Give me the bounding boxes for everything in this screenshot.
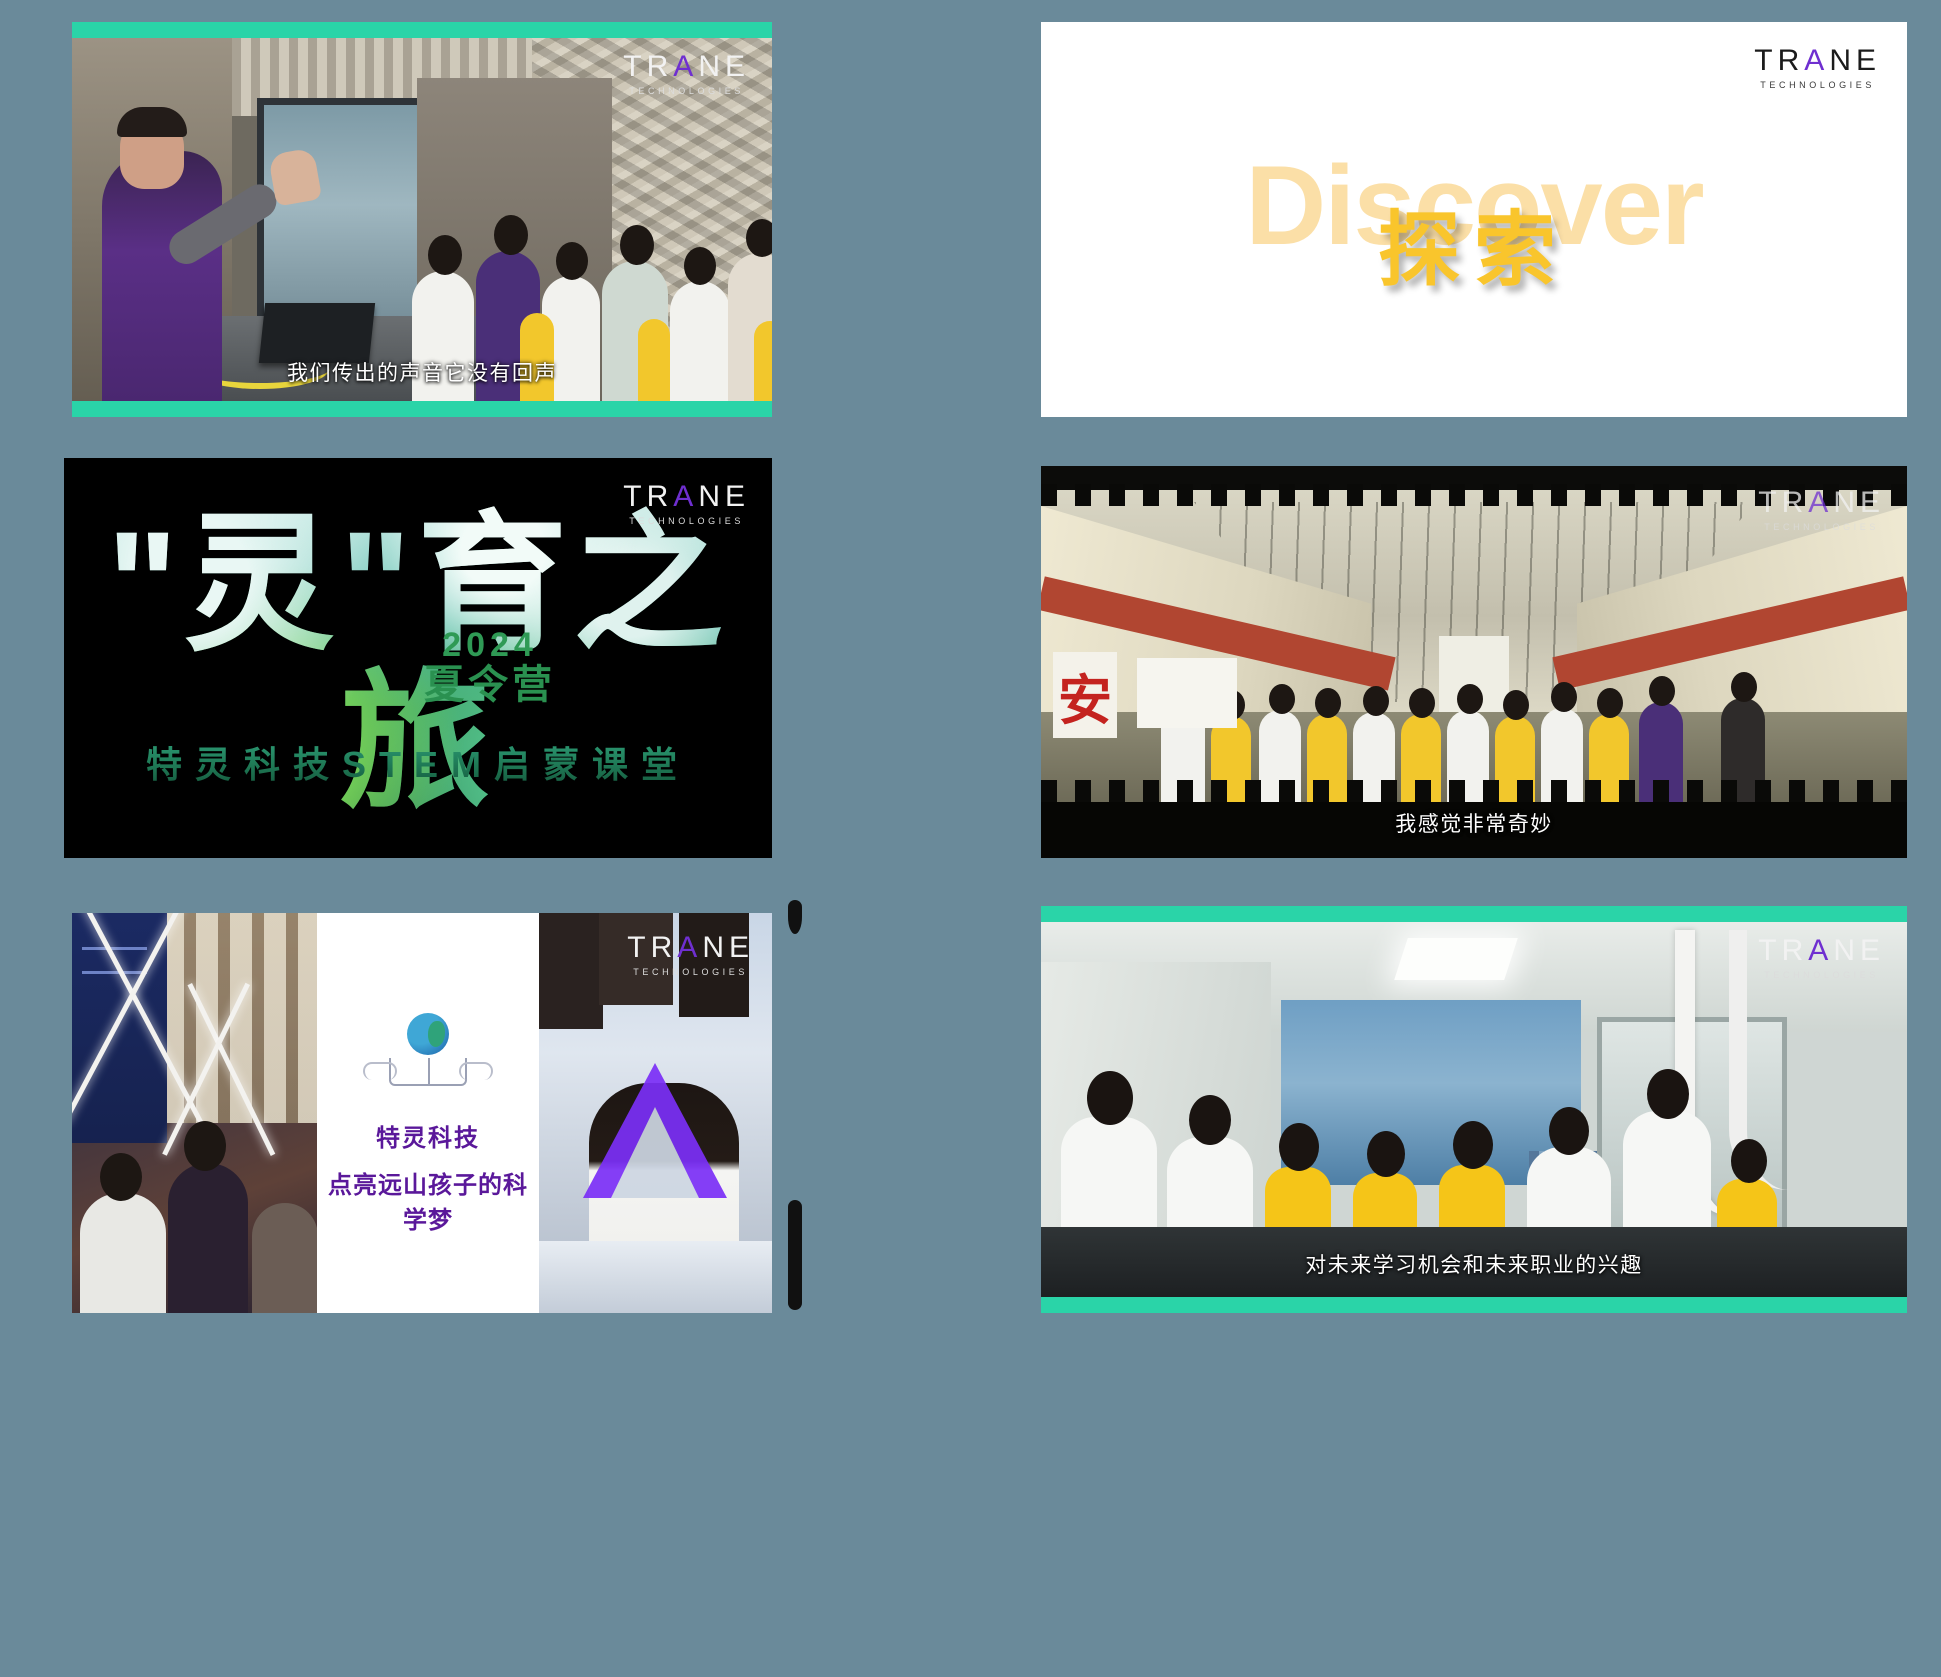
collage-column-museum xyxy=(72,913,317,1313)
panel-laboratory-clip[interactable]: TRANE TECHNOLOGIES 对未来学习机会和未来职业的兴趣 xyxy=(1041,906,1907,1313)
globe-book-emblem xyxy=(389,1013,467,1086)
panel-discover-title-slide[interactable]: TRANE TECHNOLOGIES Discover 探索 xyxy=(1041,22,1907,417)
trane-logo: TRANE TECHNOLOGIES xyxy=(1758,936,1885,980)
presenter-head xyxy=(120,115,184,189)
trane-subtext: TECHNOLOGIES xyxy=(1754,81,1881,90)
teal-bar-bottom xyxy=(1041,1297,1907,1313)
trane-logo: TRANE TECHNOLOGIES xyxy=(627,933,754,977)
teal-bar-top xyxy=(1041,906,1907,922)
trane-wordmark: TRANE xyxy=(623,52,750,82)
camp-name: 夏令营 xyxy=(424,664,556,706)
divider-mark-lower xyxy=(788,1200,802,1310)
poster-line-2: 点亮远山孩子的科学梦 xyxy=(317,1165,539,1235)
trane-word-a: A xyxy=(677,933,702,963)
trane-wordmark: TRANE xyxy=(627,933,754,963)
collage-column-poster: 特灵科技 点亮远山孩子的科学梦 xyxy=(317,913,539,1313)
screenshot-canvas: TRANE TECHNOLOGIES 我们传出的声音它没有回声 TRANE TE… xyxy=(0,0,1941,1677)
safety-sign-an: 安 xyxy=(1053,652,1117,738)
museum-visitors xyxy=(72,1153,317,1313)
panel-factory-tour-clip[interactable]: 安 xyxy=(1041,466,1907,858)
trane-word-a: A xyxy=(1804,46,1829,76)
trane-word-pre: TR xyxy=(627,933,677,963)
film-sprocket-bottom xyxy=(1041,780,1907,802)
trane-word-post: NE xyxy=(702,933,754,963)
trane-word-a: A xyxy=(673,52,698,82)
book-icon xyxy=(389,1058,467,1086)
ceiling-light-panel xyxy=(1394,938,1518,980)
trane-logo: TRANE TECHNOLOGIES xyxy=(1758,488,1885,532)
trane-word-post: NE xyxy=(1833,936,1885,966)
cloud-icon-right xyxy=(459,1062,493,1080)
trane-word-pre: TR xyxy=(623,52,673,82)
trane-word-post: NE xyxy=(1829,46,1881,76)
hoisting-area-sign xyxy=(1137,658,1237,728)
trane-wordmark: TRANE xyxy=(1758,488,1885,518)
trane-logo: TRANE TECHNOLOGIES xyxy=(623,482,750,526)
trane-word-post: NE xyxy=(1833,488,1885,518)
work-desk xyxy=(539,1241,772,1313)
trane-word-pre: TR xyxy=(1758,936,1808,966)
trane-subtext: TECHNOLOGIES xyxy=(627,968,754,977)
trane-subtext: TECHNOLOGIES xyxy=(623,517,750,526)
trane-subtext: TECHNOLOGIES xyxy=(1758,971,1885,980)
trane-wordmark: TRANE xyxy=(1754,46,1881,76)
poster-line-1: 特灵科技 xyxy=(317,1118,539,1153)
trane-word-post: NE xyxy=(698,482,750,512)
trane-word-a: A xyxy=(1808,936,1833,966)
cloud-icon-left xyxy=(363,1062,397,1080)
chevron-shape-icon xyxy=(583,1063,727,1198)
discover-headline-chinese: 探索 xyxy=(1041,210,1907,292)
trane-word-pre: TR xyxy=(1758,488,1808,518)
panel-camp-title-card[interactable]: TRANE TECHNOLOGIES "灵"育之旅 2024 夏令营 特灵科技S… xyxy=(64,458,772,858)
globe-icon xyxy=(407,1013,449,1055)
trane-word-pre: TR xyxy=(623,482,673,512)
camp-subline: 特灵科技STEM启蒙课堂 xyxy=(64,736,772,788)
trane-word-a: A xyxy=(1808,488,1833,518)
subtitle-caption: 我感觉非常奇妙 xyxy=(1041,808,1907,838)
trane-word-pre: TR xyxy=(1754,46,1804,76)
trane-wordmark: TRANE xyxy=(623,482,750,512)
camp-year-badge: 2024 夏令营 xyxy=(424,628,556,706)
trane-logo: TRANE TECHNOLOGIES xyxy=(623,52,750,96)
trane-word-post: NE xyxy=(698,52,750,82)
divider-mark-upper xyxy=(788,900,802,934)
trane-word-a: A xyxy=(673,482,698,512)
trane-subtext: TECHNOLOGIES xyxy=(623,87,750,96)
subtitle-caption: 我们传出的声音它没有回声 xyxy=(72,357,772,387)
teal-bar-bottom xyxy=(72,401,772,417)
trane-wordmark: TRANE xyxy=(1758,936,1885,966)
trane-logo: TRANE TECHNOLOGIES xyxy=(1754,46,1881,90)
panel-anechoic-chamber-clip[interactable]: TRANE TECHNOLOGIES 我们传出的声音它没有回声 xyxy=(72,22,772,417)
trane-subtext: TECHNOLOGIES xyxy=(1758,523,1885,532)
teal-bar-top xyxy=(72,22,772,38)
panel-school-visit-collage[interactable]: 特灵科技 点亮远山孩子的科学梦 TRANE TECHNOLOGIES xyxy=(72,913,772,1313)
camp-year: 2024 xyxy=(424,628,556,664)
subtitle-caption: 对未来学习机会和未来职业的兴趣 xyxy=(1041,1249,1907,1279)
